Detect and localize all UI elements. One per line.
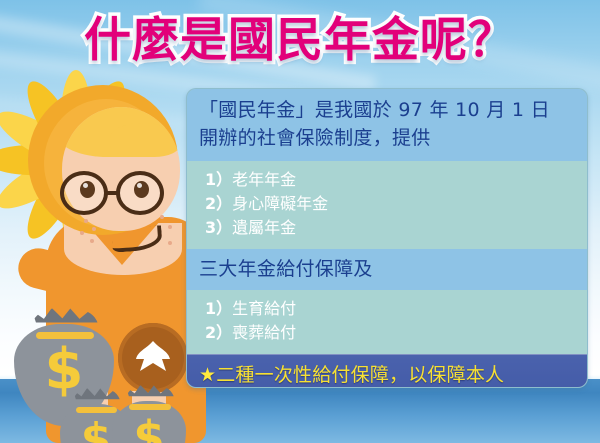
list-item: 1）生育給付	[205, 297, 575, 321]
list-item-number: 1）	[205, 170, 232, 189]
info-panel: 「國民年金」是我國於 97 年 10 月 1 日 開辦的社會保險制度，提供 1）…	[186, 88, 588, 388]
star-icon: ★	[199, 364, 216, 386]
list-item: 2）身心障礙年金	[205, 192, 575, 216]
list-item-label: 生育給付	[232, 299, 296, 318]
glasses-icon	[58, 171, 188, 217]
pension-list: 1）老年年金 2）身心障礙年金 3）遺屬年金	[187, 161, 587, 249]
note-line-1: ★二種一次性給付保障，以保障本人	[199, 362, 577, 388]
panel-intro-band: 「國民年金」是我國於 97 年 10 月 1 日 開辦的社會保險制度，提供	[187, 89, 587, 161]
list-item-label: 身心障礙年金	[232, 194, 328, 213]
list-item-number: 2）	[205, 194, 232, 213]
list-item-number: 3）	[205, 218, 232, 237]
poster-canvas: 什麼是國民年金呢？	[0, 0, 600, 443]
dollar-sign-icon: $	[112, 415, 186, 443]
list-item-label: 喪葬給付	[232, 323, 296, 342]
list-item-number: 2）	[205, 323, 232, 342]
emblem-glyph-icon	[132, 337, 174, 379]
benefits-list: 1）生育給付 2）喪葬給付	[187, 290, 587, 354]
benefits-heading-band: 三大年金給付保障及	[187, 249, 587, 290]
poster-title: 什麼是國民年金呢？	[0, 12, 600, 70]
list-item-label: 遺屬年金	[232, 218, 296, 237]
list-item: 3）遺屬年金	[205, 216, 575, 240]
list-item-number: 1）	[205, 299, 232, 318]
intro-line-1: 「國民年金」是我國於 97 年 10 月 1 日	[199, 96, 575, 124]
pension-emblem-icon	[118, 323, 188, 393]
benefits-heading: 三大年金給付保障及	[199, 255, 575, 283]
list-item: 1）老年年金	[205, 168, 575, 192]
list-item: 2）喪葬給付	[205, 321, 575, 345]
highlight-note-band: ★二種一次性給付保障，以保障本人 或其遺屬的基本經濟生活。	[187, 354, 587, 388]
intro-line-2: 開辦的社會保險制度，提供	[199, 124, 575, 152]
list-item-label: 老年年金	[232, 170, 296, 189]
money-bag-small: $	[112, 385, 186, 443]
note-text-1: 二種一次性給付保障，以保障本人	[216, 364, 504, 386]
